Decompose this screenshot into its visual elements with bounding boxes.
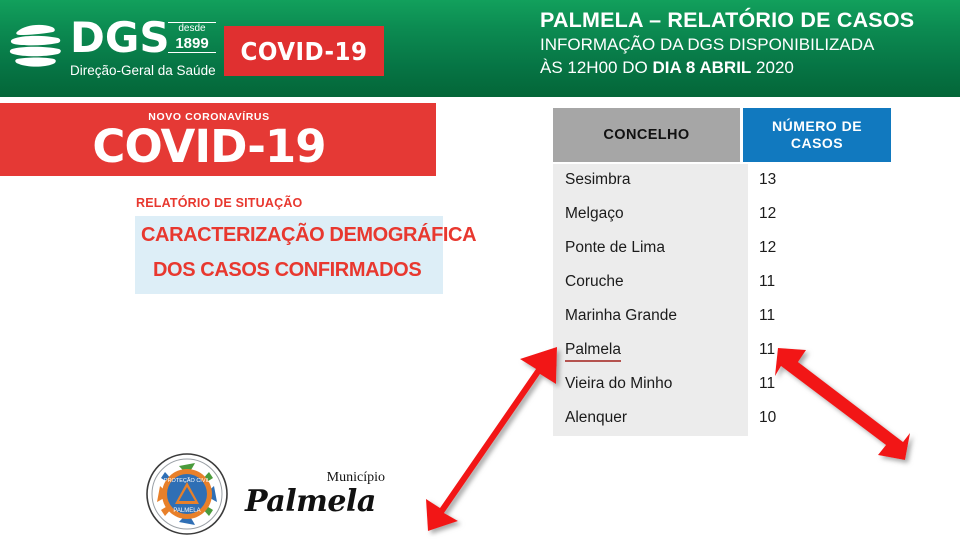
covid19-banner: NOVO CORONAVÍRUS COVID-19	[0, 103, 436, 176]
covid19-banner-title: COVID-19	[0, 122, 436, 172]
palmela-municipality-logo: PROTEÇÃO CIVIL PALMELA Município Palmela	[145, 452, 385, 538]
page-title: PALMELA – RELATÓRIO DE CASOS	[540, 8, 960, 33]
table-row[interactable]: Ponte de Lima 12	[553, 232, 891, 266]
palmela-civil-protection-emblem-icon: PROTEÇÃO CIVIL PALMELA	[145, 452, 229, 536]
table-body: Sesimbra 13 Melgaço 12 Ponte de Lima 12 …	[553, 164, 891, 436]
table-cell-concelho: Palmela	[565, 341, 621, 362]
table-cell-casos: 12	[759, 205, 776, 223]
header-date-bold: DIA 8 ABRIL	[652, 58, 751, 77]
svg-text:PALMELA: PALMELA	[173, 508, 200, 514]
header-title-block: PALMELA – RELATÓRIO DE CASOS INFORMAÇÃO …	[540, 8, 960, 79]
table-cell-concelho: Sesimbra	[565, 171, 630, 189]
table-cell-concelho: Melgaço	[565, 205, 624, 223]
table-cell-casos: 10	[759, 409, 776, 427]
table-cell-concelho: Alenquer	[565, 409, 627, 427]
dgs-subtitle: Direção-Geral da Saúde	[70, 63, 216, 78]
report-kicker: RELATÓRIO DE SITUAÇÃO	[136, 196, 302, 210]
table-row[interactable]: Melgaço 12	[553, 198, 891, 232]
table-cell-concelho: Vieira do Minho	[565, 375, 672, 393]
dgs-desde-block: desde 1899	[166, 22, 218, 53]
table-cell-casos: 11	[759, 341, 775, 359]
dgs-desde-label: desde	[166, 23, 218, 35]
table-cell-casos: 12	[759, 239, 776, 257]
table-cell-casos: 13	[759, 171, 776, 189]
table-header-casos: NÚMERO DECASOS	[743, 108, 891, 162]
table-header-casos-label: NÚMERO DECASOS	[772, 118, 862, 152]
dgs-letters: DGS	[70, 14, 170, 62]
divider-bottom	[168, 52, 216, 53]
table-cell-casos: 11	[759, 273, 775, 291]
report-heading-line1: CARACTERIZAÇÃO DEMOGRÁFICA	[141, 224, 476, 247]
table-cell-concelho: Coruche	[565, 273, 624, 291]
page-header: DGS desde 1899 Direção-Geral da Saúde CO…	[0, 0, 960, 97]
table-header-casos-line2: CASOS	[791, 135, 843, 151]
table-header-concelho-label: CONCELHO	[603, 127, 689, 143]
table-header-concelho: CONCELHO	[553, 108, 740, 162]
globe-icon	[8, 20, 64, 72]
table-cell-casos: 11	[759, 307, 775, 325]
table-row-palmela[interactable]: Palmela 11	[553, 334, 891, 368]
table-row[interactable]: Alenquer 10	[553, 402, 891, 436]
svg-text:PROTEÇÃO CIVIL: PROTEÇÃO CIVIL	[164, 477, 210, 484]
header-date-prefix: ÀS 12H00 DO	[540, 58, 652, 77]
table-header-casos-line1: NÚMERO DE	[772, 118, 862, 134]
table-cell-casos: 11	[759, 375, 775, 393]
table-row[interactable]: Coruche 11	[553, 266, 891, 300]
header-subtitle-line2: ÀS 12H00 DO DIA 8 ABRIL 2020	[540, 56, 960, 79]
report-heading-line2: DOS CASOS CONFIRMADOS	[153, 259, 421, 282]
table-header-row: CONCELHO NÚMERO DECASOS	[553, 108, 891, 162]
palmela-name-label: Palmela	[245, 484, 376, 519]
report-highlight-box: CARACTERIZAÇÃO DEMOGRÁFICA DOS CASOS CON…	[135, 216, 443, 294]
dgs-logo: DGS desde 1899 Direção-Geral da Saúde	[8, 18, 218, 80]
header-date-suffix: 2020	[751, 58, 794, 77]
table-row[interactable]: Sesimbra 13	[553, 164, 891, 198]
covid19-badge-label: COVID-19	[241, 37, 368, 66]
table-cell-concelho: Marinha Grande	[565, 307, 677, 325]
cases-table: CONCELHO NÚMERO DECASOS Sesimbra 13 Melg…	[553, 108, 891, 436]
table-row[interactable]: Vieira do Minho 11	[553, 368, 891, 402]
covid19-badge: COVID-19	[224, 26, 384, 76]
table-row[interactable]: Marinha Grande 11	[553, 300, 891, 334]
header-subtitle-line1: INFORMAÇÃO DA DGS DISPONIBILIZADA	[540, 33, 960, 56]
dgs-desde-year: 1899	[166, 35, 218, 52]
table-cell-concelho: Ponte de Lima	[565, 239, 665, 257]
